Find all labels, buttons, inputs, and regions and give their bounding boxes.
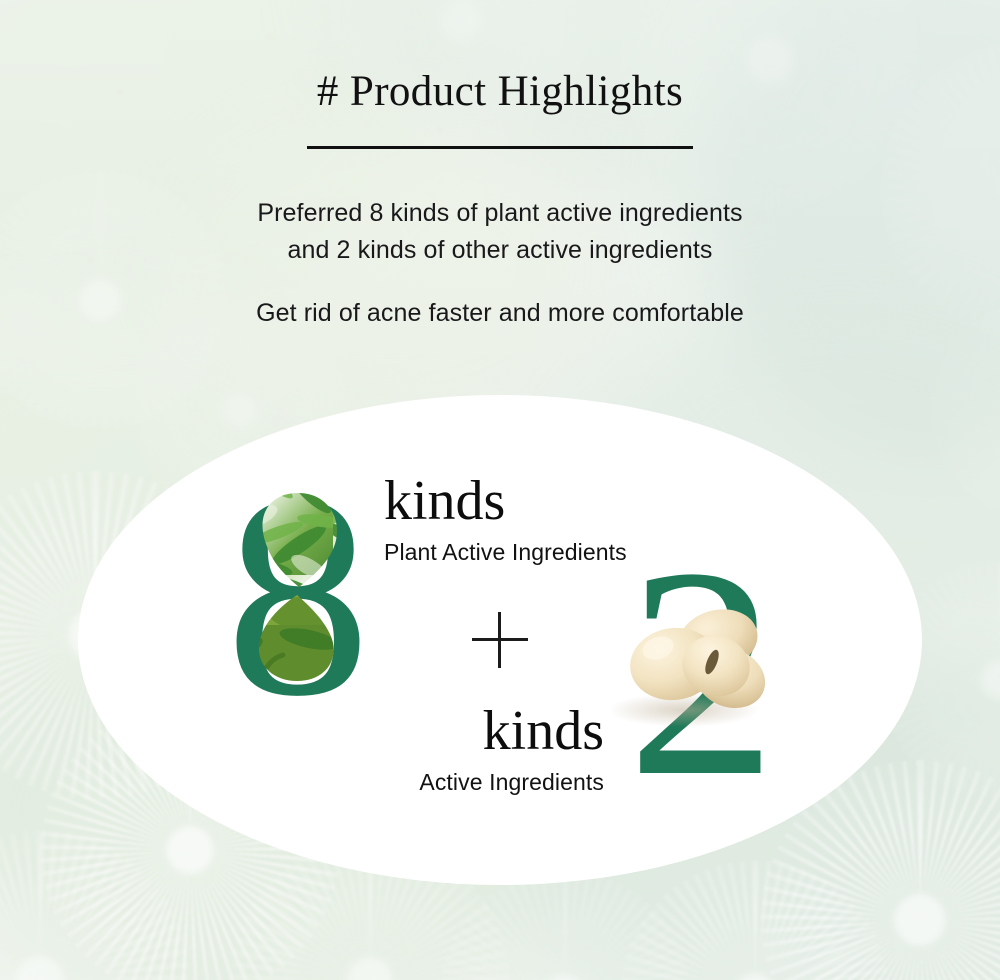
product-highlights-banner: # Product Highlights Preferred 8 kinds o… (0, 0, 1000, 980)
ingredient-label-plant: Plant Active Ingredients (384, 536, 627, 568)
numeral-eight-svg: 8 (213, 455, 383, 715)
highlight-item-plant: kinds Plant Active Ingredients (384, 472, 627, 568)
intro-text: Preferred 8 kinds of plant active ingred… (0, 195, 1000, 331)
header: # Product Highlights (0, 68, 1000, 149)
plus-icon (472, 612, 528, 668)
ingredient-label-active: Active Ingredients (380, 766, 604, 798)
title-divider (307, 146, 693, 149)
numeral-two-fill: 2 (612, 522, 792, 822)
page-title: # Product Highlights (0, 68, 1000, 116)
intro-line-1: Preferred 8 kinds of plant active ingred… (0, 195, 1000, 232)
numeral-eight-graphic: 8 (213, 455, 383, 715)
numeral-two-graphic: 2 (612, 580, 792, 820)
unit-label-kinds-active: kinds (380, 702, 604, 760)
unit-label-kinds-plant: kinds (384, 472, 627, 530)
highlight-item-active: kinds Active Ingredients (380, 702, 604, 798)
intro-line-3: Get rid of acne faster and more comforta… (0, 295, 1000, 331)
intro-line-2: and 2 kinds of other active ingredients (0, 232, 1000, 269)
